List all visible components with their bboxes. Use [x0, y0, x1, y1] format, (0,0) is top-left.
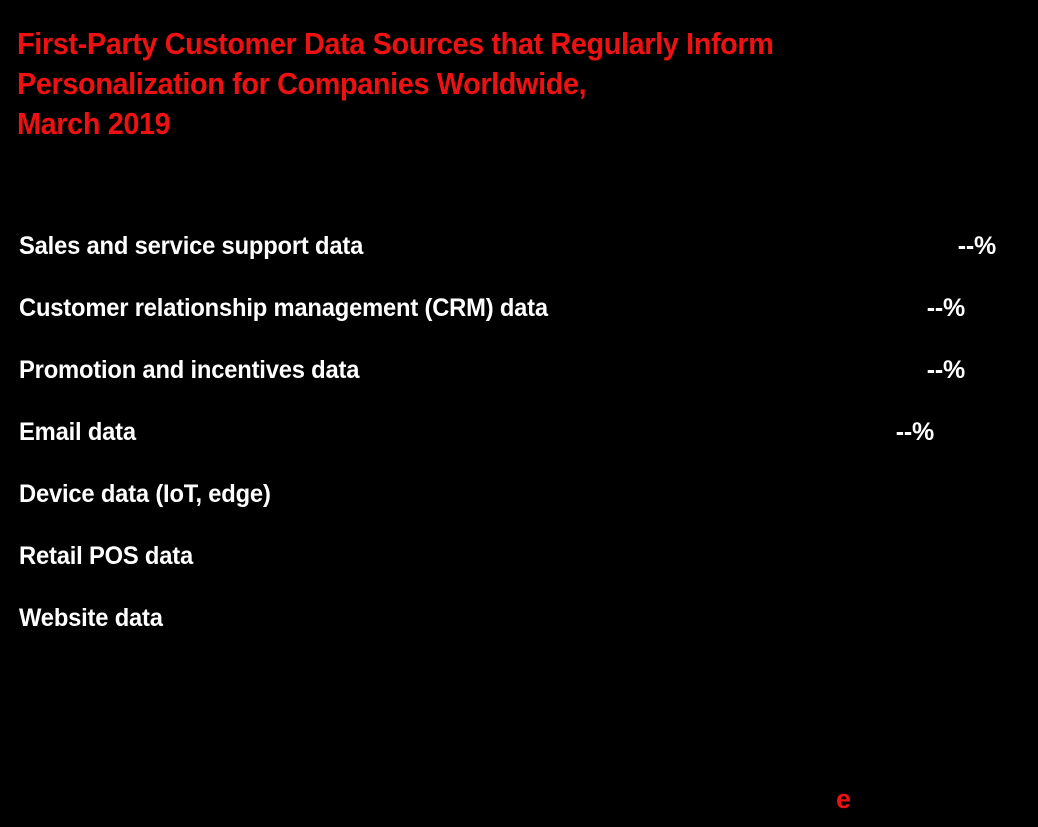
- bar-row: Promotion and incentives data --%: [0, 339, 1038, 401]
- bar-row: Email data --%: [0, 401, 1038, 463]
- bar-track: [19, 401, 1038, 463]
- bar-row-label: Device data (IoT, edge): [19, 463, 271, 525]
- bar-row-label: Customer relationship management (CRM) d…: [19, 277, 548, 339]
- chart-title: First-Party Customer Data Sources that R…: [17, 24, 910, 144]
- bar-track: [19, 587, 1038, 649]
- bar-row-label: Website data: [19, 587, 163, 649]
- bar-row: Customer relationship management (CRM) d…: [0, 277, 1038, 339]
- bar-row-label: Sales and service support data: [19, 215, 363, 277]
- bar-row-value: --%: [958, 215, 996, 277]
- brand-e-glyph: e: [836, 784, 850, 814]
- bar-row-value: --%: [927, 277, 965, 339]
- bar-fill: [19, 410, 934, 454]
- bar-row: Sales and service support data --%: [0, 215, 1038, 277]
- emarketer-logo-icon: e: [836, 786, 862, 812]
- bar-row-value: --%: [927, 339, 965, 401]
- bar-row-label: Email data: [19, 401, 136, 463]
- bar-row: Website data: [0, 587, 1038, 649]
- bar-row-value: --%: [896, 401, 934, 463]
- bar-row-label: Promotion and incentives data: [19, 339, 359, 401]
- bar-row: Retail POS data: [0, 525, 1038, 587]
- chart-root: First-Party Customer Data Sources that R…: [0, 0, 1038, 827]
- bar-row-label: Retail POS data: [19, 525, 193, 587]
- chart-plot-area: Sales and service support data --% Custo…: [0, 215, 1038, 655]
- bar-row: Device data (IoT, edge): [0, 463, 1038, 525]
